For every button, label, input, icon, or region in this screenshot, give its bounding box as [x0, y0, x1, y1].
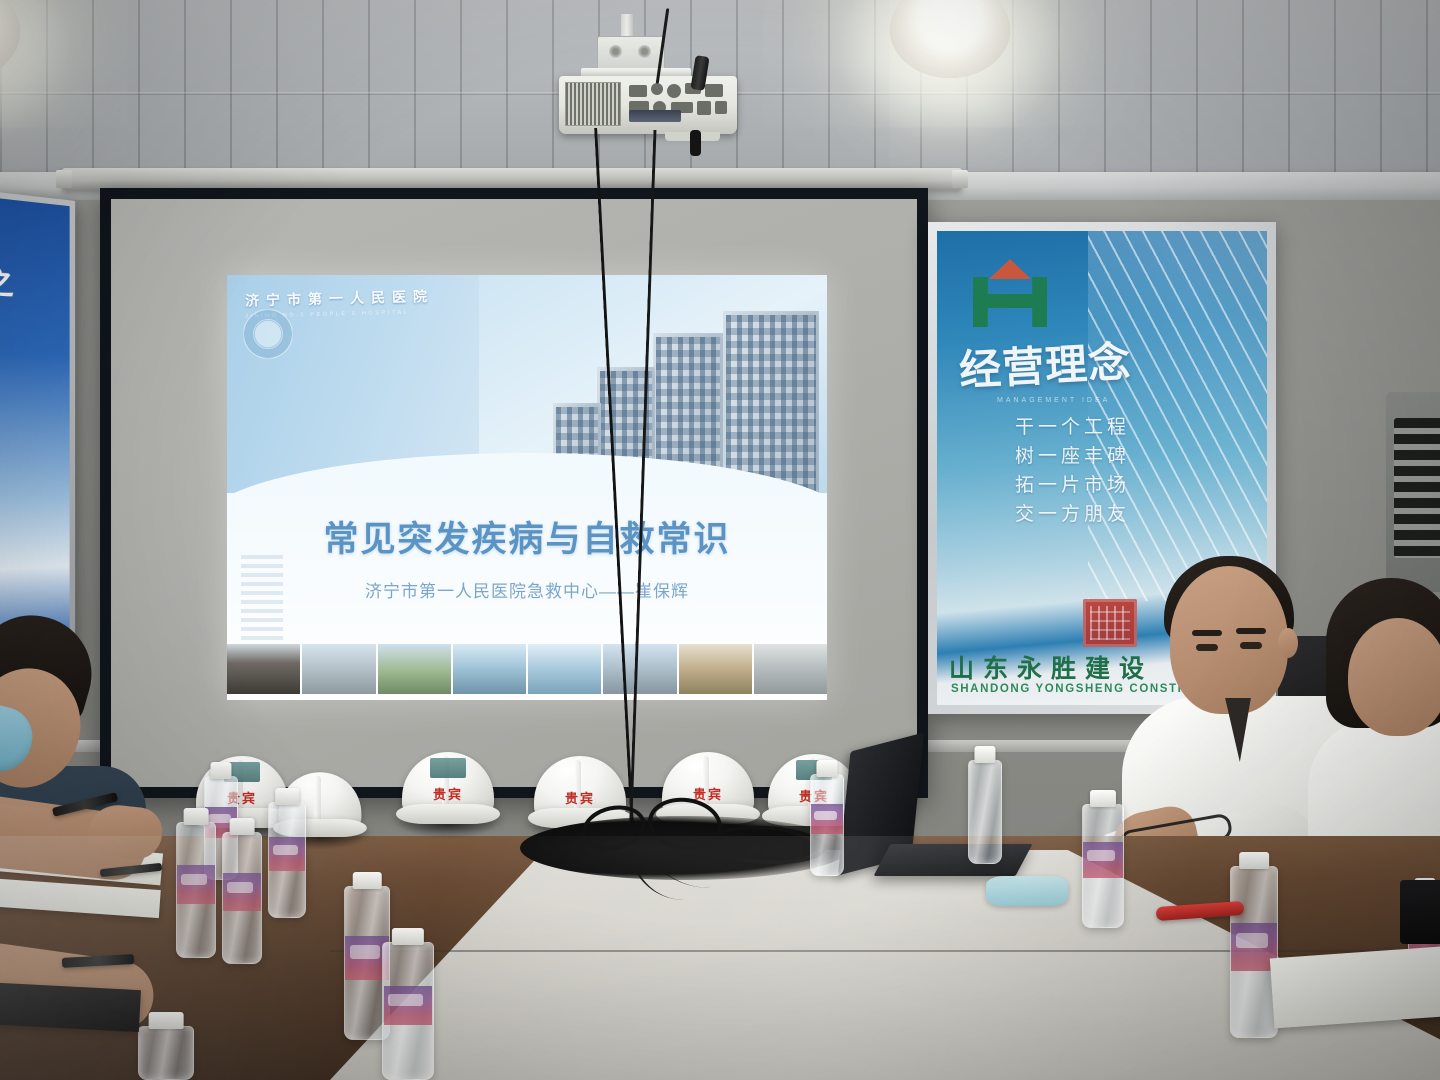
- eyebrow: [1192, 630, 1222, 636]
- projector-vent-icon: [565, 82, 621, 126]
- slogan-line: 树一座丰碑: [1015, 442, 1130, 471]
- strip-photo: [679, 644, 752, 694]
- strip-photo: [453, 644, 526, 694]
- air-vent-icon: [1394, 418, 1440, 558]
- dark-cup: [1400, 880, 1440, 944]
- bottle-label: [811, 804, 843, 834]
- projector-mount-plate: [597, 36, 665, 72]
- face: [1348, 618, 1440, 736]
- slogan-line: 交一方朋友: [1015, 500, 1130, 529]
- bottle-cap: [275, 788, 299, 805]
- hard-hat: 贵宾: [396, 752, 500, 836]
- eyebrow: [1236, 628, 1266, 634]
- company-seal-icon: [1083, 599, 1137, 647]
- strip-photo: [227, 644, 300, 694]
- water-bottle: [222, 818, 262, 964]
- bottle-cap: [1239, 852, 1269, 869]
- poster-heading: 经营理念: [958, 325, 1191, 399]
- bottle-cap: [392, 928, 424, 945]
- water-bottle: [382, 928, 434, 1080]
- papers-stack: [1270, 946, 1440, 1029]
- slide-photo-strip: [227, 644, 827, 694]
- strip-photo: [378, 644, 451, 694]
- logo-roof-shape: [989, 259, 1031, 279]
- bottle-label: [177, 865, 215, 904]
- bottle-cap: [974, 746, 995, 763]
- ear: [1278, 628, 1298, 658]
- water-bottle: [1230, 852, 1278, 1038]
- water-bottle: [138, 1012, 194, 1080]
- water-bottle: [810, 760, 844, 876]
- slide-hospital-header: 济宁市第一人民医院 JINING NO.1 PEOPLE'S HOSPITAL: [245, 285, 701, 314]
- face: [1170, 566, 1288, 714]
- screen-roller-cap-left: [56, 170, 72, 188]
- bottle-body: [968, 760, 1002, 864]
- water-bottle: [176, 808, 216, 958]
- bottle-cap: [1090, 790, 1116, 807]
- projector-lens: [629, 110, 681, 122]
- screen-surface: 济宁市第一人民医院 JINING NO.1 PEOPLE'S HOSPITAL …: [111, 199, 917, 787]
- slogan-line: 干一个工程: [1015, 413, 1130, 442]
- projection-screen: 济宁市第一人民医院 JINING NO.1 PEOPLE'S HOSPITAL …: [100, 188, 928, 798]
- bottle-label: [384, 986, 433, 1026]
- strip-photo: [754, 644, 827, 694]
- hat-label: 贵宾: [396, 784, 500, 803]
- poster-slogan-lines: 干一个工程 树一座丰碑 拓一片市场 交一方朋友: [1015, 413, 1130, 529]
- poster-heading-en: MANAGEMENT IDEA: [997, 397, 1110, 404]
- poster-left-text: 之: [0, 256, 14, 304]
- slide-hero-image: 济宁市第一人民医院 JINING NO.1 PEOPLE'S HOSPITAL: [227, 275, 827, 493]
- bottle-body: [138, 1026, 194, 1080]
- ceiling-projector: [545, 14, 750, 139]
- bottle-cap: [230, 818, 255, 835]
- bottle-label: [1083, 842, 1122, 878]
- slogan-line: 拓一片市场: [1015, 471, 1130, 500]
- construction-logo-icon: [973, 259, 1047, 327]
- hat-ridge: [315, 776, 321, 823]
- bottle-cap: [149, 1012, 184, 1029]
- meeting-room-photo: 之: [0, 0, 1440, 1080]
- laptop-keyboard[interactable]: [873, 844, 1032, 876]
- projected-slide: 济宁市第一人民医院 JINING NO.1 PEOPLE'S HOSPITAL …: [227, 275, 827, 700]
- eye: [1240, 642, 1262, 649]
- screen-roller-cap-right: [952, 170, 968, 188]
- slide-title: 常见突发疾病与自救常识: [227, 511, 827, 562]
- wall-air-conditioner: [1386, 392, 1440, 592]
- projector-body: [559, 76, 737, 134]
- hospital-emblem-icon: [243, 309, 293, 359]
- water-bottle: [968, 746, 1002, 864]
- cable-ferrite-icon: [690, 130, 701, 156]
- hat-tag: [430, 758, 466, 778]
- water-bottle: [1082, 790, 1124, 928]
- bottle-label: [223, 873, 261, 911]
- bottle-cap: [816, 760, 837, 777]
- face-mask-on-table: [986, 876, 1068, 906]
- bottle-cap: [353, 872, 382, 889]
- hat-label: 贵宾: [528, 788, 632, 807]
- strip-photo: [528, 644, 601, 694]
- eye: [1196, 644, 1218, 651]
- logo-body-shape: [973, 277, 1047, 327]
- bottle-label: [269, 837, 305, 871]
- slide-subtitle: 济宁市第一人民医院急救中心——崔保辉: [227, 577, 827, 602]
- strip-photo: [302, 644, 375, 694]
- notebook: [0, 982, 141, 1032]
- bottle-cap: [184, 808, 209, 825]
- hat-brim: [396, 804, 500, 824]
- bottle-cap: [210, 762, 231, 779]
- screen-roller-housing: [62, 168, 962, 190]
- water-bottle: [268, 788, 306, 918]
- strip-photo: [603, 644, 676, 694]
